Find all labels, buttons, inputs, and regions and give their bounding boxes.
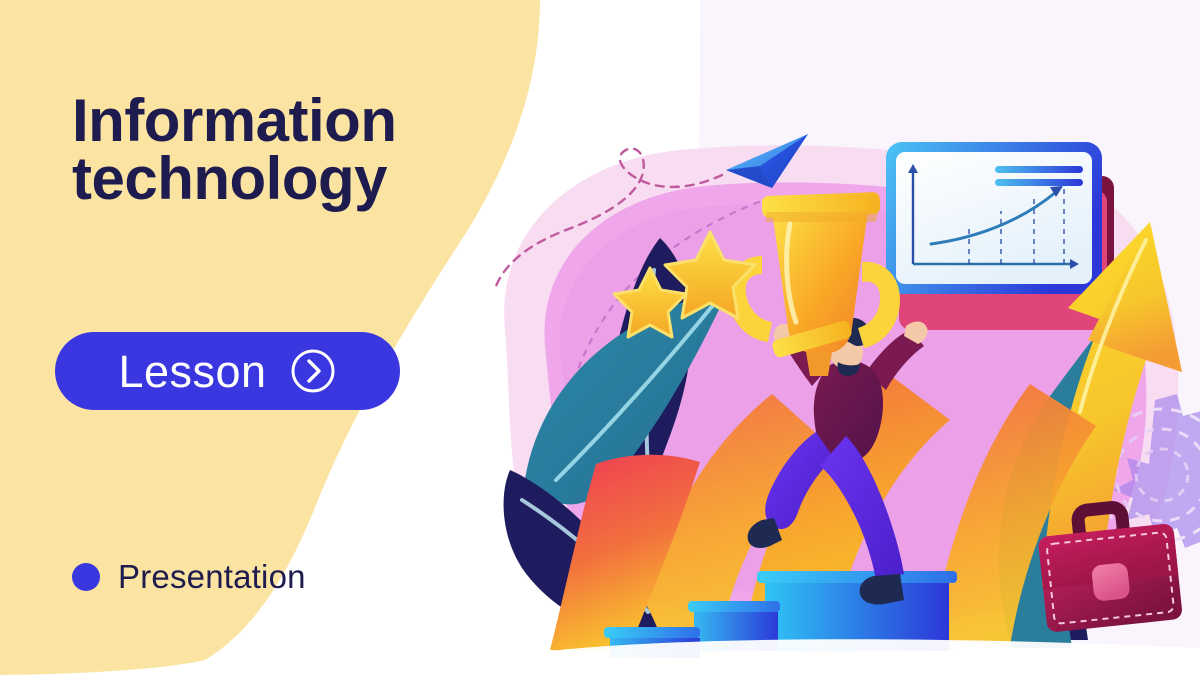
chevron-right-circle-icon (289, 347, 337, 395)
trophy-stem (806, 352, 832, 376)
briefcase-lock (1091, 562, 1131, 602)
step-top-cap (757, 571, 957, 583)
step-low-cap (604, 627, 700, 638)
floor-base (500, 658, 1200, 675)
trophy-rim-shade (766, 212, 878, 222)
chart-title-bar-2 (995, 179, 1083, 186)
subtitle-label: Presentation (118, 558, 306, 596)
chart-title-bar-1 (995, 166, 1083, 173)
step-mid-cap (688, 601, 780, 612)
bullet-dot-icon (72, 563, 100, 591)
slide-canvas: Information technology Lesson Presentati… (0, 0, 1200, 675)
lesson-button[interactable]: Lesson (55, 332, 400, 410)
page-title: Information technology (72, 92, 502, 208)
lesson-button-label: Lesson (118, 349, 266, 394)
subtitle-row: Presentation (72, 558, 306, 596)
